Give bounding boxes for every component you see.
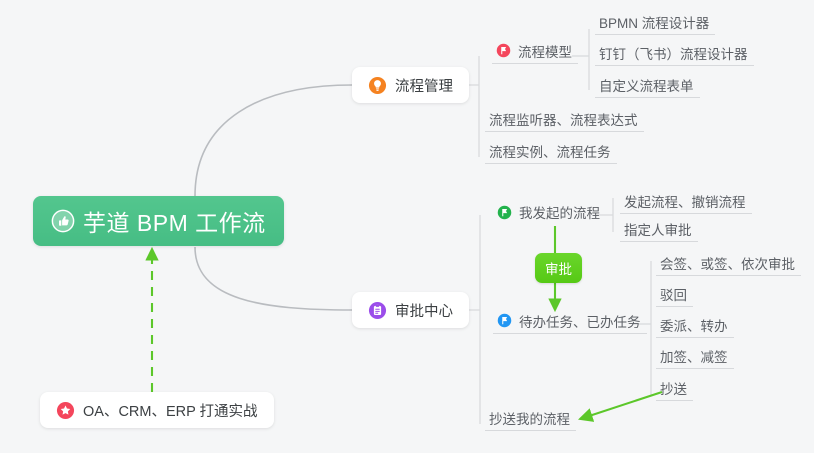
node-process-listener-expression[interactable]: 流程监听器、流程表达式 bbox=[485, 106, 644, 132]
node-reject-label: 驳回 bbox=[660, 284, 687, 304]
node-process-model-label: 流程模型 bbox=[518, 41, 572, 61]
flag-red-icon bbox=[496, 43, 511, 58]
node-carbon-copy-label: 抄送 bbox=[660, 378, 687, 398]
link-root-to-approval-center bbox=[195, 247, 352, 310]
arrow-cc-to-cc-my-process bbox=[580, 392, 662, 419]
node-countersign-orsign-sequential[interactable]: 会签、或签、依次审批 bbox=[656, 250, 801, 276]
node-delegate-transfer[interactable]: 委派、转办 bbox=[656, 312, 734, 338]
clipboard-icon bbox=[368, 301, 387, 320]
root-node[interactable]: 芋道 BPM 工作流 bbox=[33, 196, 284, 246]
node-process-instance-task-label: 流程实例、流程任务 bbox=[489, 141, 611, 161]
node-countersign-orsign-sequential-label: 会签、或签、依次审批 bbox=[660, 253, 795, 273]
node-add-remove-sign-label: 加签、减签 bbox=[660, 346, 728, 366]
node-bpmn-designer-label: BPMN 流程设计器 bbox=[599, 12, 709, 32]
node-cc-to-me-process[interactable]: 抄送我的流程 bbox=[485, 405, 576, 431]
annotation-integration-note[interactable]: OA、CRM、ERP 打通实战 bbox=[40, 392, 274, 428]
node-dingtalk-feishu-designer[interactable]: 钉钉（飞书）流程设计器 bbox=[595, 40, 754, 66]
node-approval-center[interactable]: 审批中心 bbox=[352, 292, 469, 328]
node-custom-process-form-label: 自定义流程表单 bbox=[599, 75, 694, 95]
node-dingtalk-feishu-designer-label: 钉钉（飞书）流程设计器 bbox=[599, 43, 748, 63]
node-bpmn-designer[interactable]: BPMN 流程设计器 bbox=[595, 9, 715, 35]
node-reject[interactable]: 驳回 bbox=[656, 281, 693, 307]
node-process-model[interactable]: 流程模型 bbox=[492, 38, 578, 64]
mindmap-canvas: 芋道 BPM 工作流 流程管理 流程模型 BPMN 流程设计器 钉钉（飞书）流程… bbox=[0, 0, 814, 453]
node-custom-process-form[interactable]: 自定义流程表单 bbox=[595, 72, 700, 98]
node-assignee-approval[interactable]: 指定人审批 bbox=[620, 216, 698, 242]
node-add-remove-sign[interactable]: 加签、减签 bbox=[656, 343, 734, 369]
node-start-cancel-process-label: 发起流程、撤销流程 bbox=[624, 191, 746, 211]
node-todo-done-tasks[interactable]: 待办任务、已办任务 bbox=[493, 308, 647, 334]
node-approval-center-label: 审批中心 bbox=[395, 300, 453, 321]
node-todo-done-tasks-label: 待办任务、已办任务 bbox=[519, 311, 641, 331]
link-root-to-process-management bbox=[195, 85, 352, 196]
lightbulb-icon bbox=[368, 76, 387, 95]
root-node-label: 芋道 BPM 工作流 bbox=[83, 204, 266, 238]
star-icon bbox=[56, 401, 75, 420]
annotation-integration-note-label: OA、CRM、ERP 打通实战 bbox=[83, 400, 258, 421]
annotation-approval-tag[interactable]: 审批 bbox=[535, 253, 582, 283]
node-process-instance-task[interactable]: 流程实例、流程任务 bbox=[485, 138, 617, 164]
node-assignee-approval-label: 指定人审批 bbox=[624, 219, 692, 239]
node-start-cancel-process[interactable]: 发起流程、撤销流程 bbox=[620, 188, 752, 214]
thumbs-up-icon bbox=[51, 209, 75, 233]
node-carbon-copy[interactable]: 抄送 bbox=[656, 375, 693, 401]
node-process-management[interactable]: 流程管理 bbox=[352, 67, 469, 103]
annotation-approval-tag-label: 审批 bbox=[545, 258, 572, 278]
node-process-management-label: 流程管理 bbox=[395, 75, 453, 96]
flag-blue-icon bbox=[497, 313, 512, 328]
node-cc-to-me-process-label: 抄送我的流程 bbox=[489, 408, 570, 428]
node-my-initiated-process[interactable]: 我发起的流程 bbox=[493, 199, 606, 225]
node-delegate-transfer-label: 委派、转办 bbox=[660, 315, 728, 335]
flag-green-icon bbox=[497, 205, 512, 220]
node-process-listener-expression-label: 流程监听器、流程表达式 bbox=[489, 109, 638, 129]
node-my-initiated-process-label: 我发起的流程 bbox=[519, 202, 600, 222]
